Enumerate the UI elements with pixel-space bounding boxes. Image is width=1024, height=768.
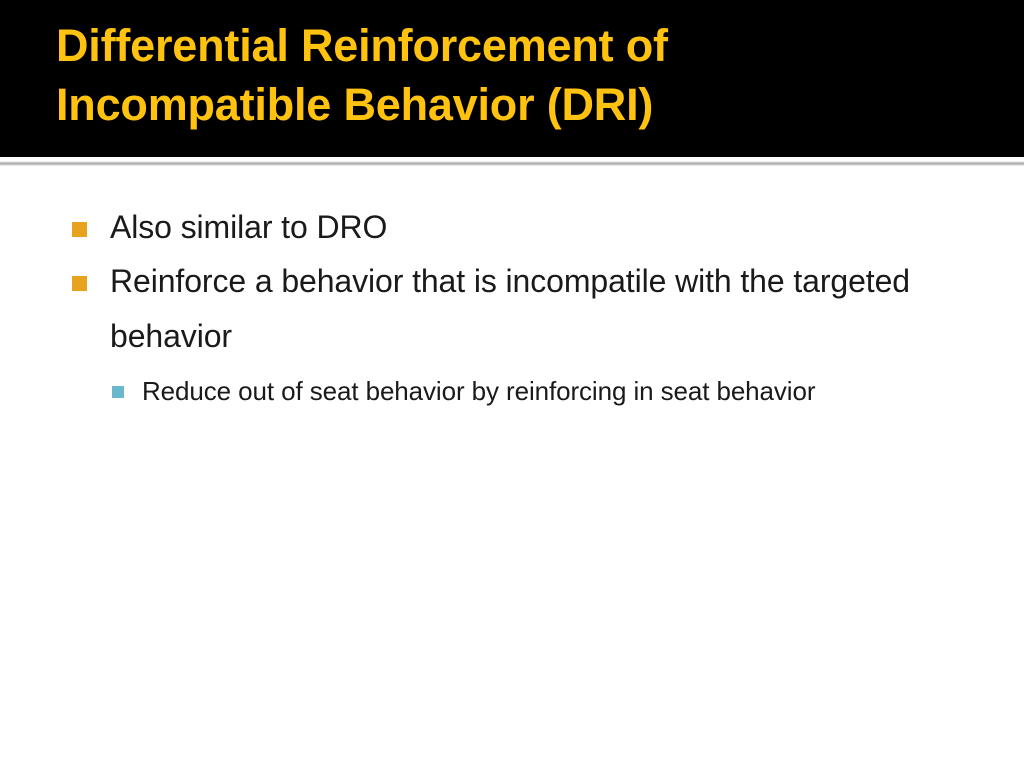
square-bullet-icon [72, 276, 87, 291]
bullet-text: Reinforce a behavior that is incompatile… [110, 254, 954, 363]
title-separator [0, 157, 1024, 169]
list-item: Also similar to DRO [0, 200, 1024, 254]
bullet-text: Also similar to DRO [110, 200, 954, 254]
slide-content-body: Also similar to DRO Reinforce a behavior… [0, 200, 1024, 415]
separator-line [0, 161, 1024, 166]
slide-title: Differential Reinforcement of Incompatib… [56, 16, 996, 135]
bullet-text: Reduce out of seat behavior by reinforci… [142, 369, 954, 415]
presentation-slide: Differential Reinforcement of Incompatib… [0, 0, 1024, 768]
list-item: Reduce out of seat behavior by reinforci… [0, 369, 1024, 415]
square-bullet-icon [112, 386, 124, 398]
list-item: Reinforce a behavior that is incompatile… [0, 254, 1024, 363]
square-bullet-icon [72, 222, 87, 237]
slide-title-banner: Differential Reinforcement of Incompatib… [0, 0, 1024, 157]
